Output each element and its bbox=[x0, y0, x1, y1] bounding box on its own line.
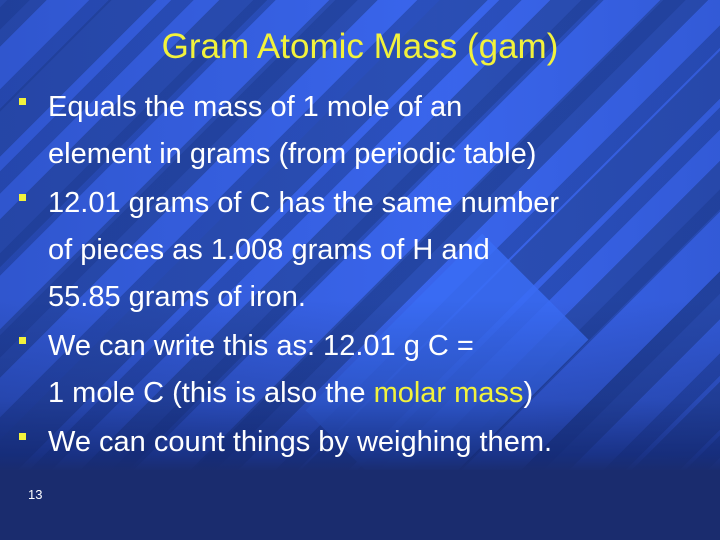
presentation-slide: Gram Atomic Mass (gam) Equals the mass o… bbox=[0, 0, 720, 540]
bullet-item-4-text: We can count things by weighing them. bbox=[48, 426, 552, 458]
square-bullet-icon bbox=[19, 194, 26, 201]
bullet-item-3-text-after: ) bbox=[523, 377, 533, 409]
bullet-item-2-text: 12.01 grams of C has the same number of … bbox=[48, 187, 559, 313]
bullet-item-1: Equals the mass of 1 mole of an element … bbox=[14, 84, 714, 178]
bullet-item-4: We can count things by weighing them. bbox=[14, 419, 714, 466]
bullet-item-1-text: Equals the mass of 1 mole of an element … bbox=[48, 91, 536, 170]
slide-title: Gram Atomic Mass (gam) bbox=[0, 26, 720, 68]
square-bullet-icon bbox=[19, 337, 26, 344]
slide-body-list: Equals the mass of 1 mole of an element … bbox=[14, 84, 714, 468]
bullet-item-3: We can write this as: 12.01 g C = 1 mole… bbox=[14, 323, 714, 417]
slide-content: Gram Atomic Mass (gam) Equals the mass o… bbox=[0, 0, 720, 540]
bullet-item-2: 12.01 grams of C has the same number of … bbox=[14, 180, 714, 321]
square-bullet-icon bbox=[19, 433, 26, 440]
square-bullet-icon bbox=[19, 98, 26, 105]
bullet-item-3-text: We can write this as: 12.01 g C = 1 mole… bbox=[48, 330, 533, 409]
slide-page-number: 13 bbox=[28, 487, 42, 503]
bullet-item-3-highlight-molar-mass: molar mass bbox=[374, 377, 524, 409]
